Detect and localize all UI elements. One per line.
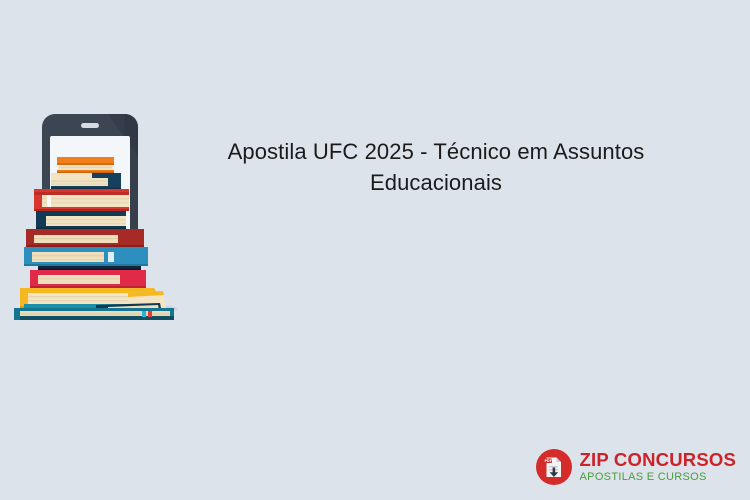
book-navy-mid-upper [36,211,126,229]
brand-tagline: APOSTILAS E CURSOS [580,472,707,483]
bookmark-cyan [142,311,146,317]
svg-text:PDF: PDF [544,459,552,463]
book-navy-upper [51,173,121,189]
book-red-upper [34,189,129,211]
brand-wordmark: ZIP CONCURSOS APOSTILAS E CURSOS [580,451,736,484]
page-title: Apostila UFC 2025 - Técnico em Assuntos … [196,136,676,198]
bookmark-red [148,311,152,317]
product-title-block: Apostila UFC 2025 - Técnico em Assuntos … [196,136,676,198]
book-navy-lower [38,266,141,270]
book-orange-top [57,157,114,173]
book-crimson-lower [30,270,146,288]
books-illustration [8,112,188,322]
book-darkteal-bottom [14,308,174,320]
book-darkred-mid [26,229,144,247]
product-promo-card: Apostila UFC 2025 - Técnico em Assuntos … [0,0,750,500]
book-blue-mid [24,247,148,266]
pdf-download-icon: PDF [535,448,573,486]
brand-name: ZIP CONCURSOS [580,451,736,470]
brand-logo[interactable]: PDF ZIP CONCURSOS APOSTILAS E CURSOS [535,446,736,488]
